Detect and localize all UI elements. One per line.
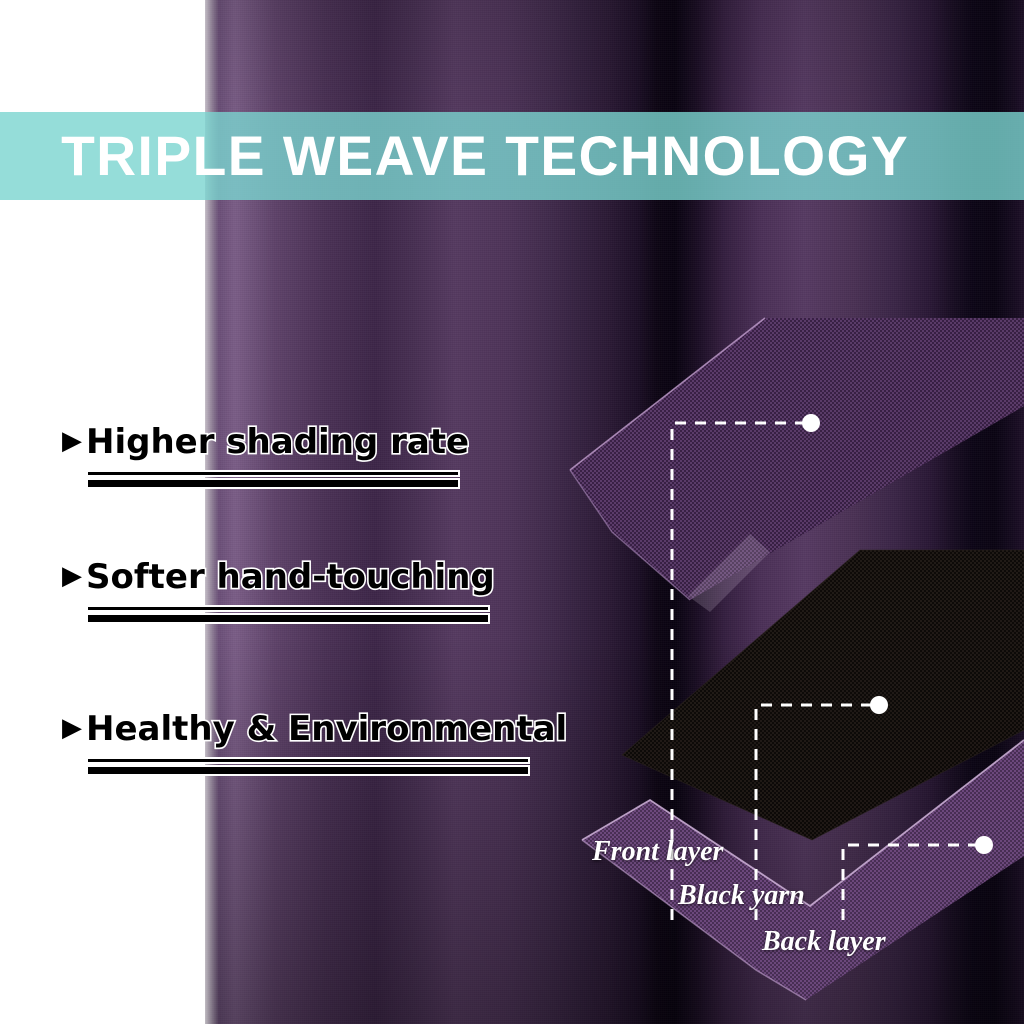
callout-front-layer: Front layer — [592, 838, 723, 866]
feature-row: ▶ Higher shading rate — [62, 425, 582, 459]
feature-label: Softer hand-touching — [86, 560, 495, 594]
underline-thin — [88, 607, 488, 610]
infographic-canvas: TRIPLE WEAVE TECHNOLOGY — [0, 0, 1024, 1024]
underline-thick — [88, 767, 528, 774]
leader-dot-black-yarn — [870, 696, 888, 714]
triangle-right-icon: ▶ — [62, 715, 82, 741]
triangle-right-icon: ▶ — [62, 428, 82, 454]
feature-row: ▶ Softer hand-touching — [62, 560, 582, 594]
feature-underline — [88, 759, 528, 774]
callout-back-layer: Back layer — [762, 928, 886, 956]
feature-row: ▶ Healthy & Environmental — [62, 712, 582, 746]
feature-item: ▶ Healthy & Environmental — [62, 712, 582, 774]
feature-label: Healthy & Environmental — [86, 712, 567, 746]
feature-underline — [88, 607, 488, 622]
triple-weave-layer-diagram — [560, 300, 1024, 920]
feature-label: Higher shading rate — [86, 425, 469, 459]
leader-dot-back-layer — [975, 836, 993, 854]
feature-item: ▶ Softer hand-touching — [62, 560, 582, 622]
triangle-right-icon: ▶ — [62, 563, 82, 589]
leader-dot-front-layer — [802, 414, 820, 432]
underline-thin — [88, 759, 528, 762]
underline-thick — [88, 480, 458, 487]
underline-thin — [88, 472, 458, 475]
feature-item: ▶ Higher shading rate — [62, 425, 582, 487]
feature-underline — [88, 472, 458, 487]
page-title: TRIPLE WEAVE TECHNOLOGY — [0, 112, 1009, 200]
underline-thick — [88, 615, 488, 622]
callout-black-yarn: Black yarn — [678, 882, 805, 910]
